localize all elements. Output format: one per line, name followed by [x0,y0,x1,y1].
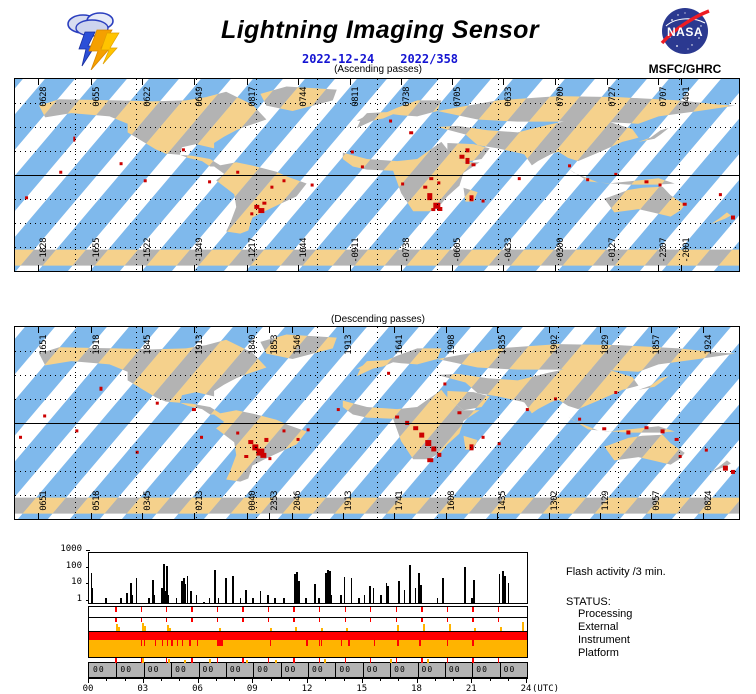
status-marker [191,618,192,622]
ascending-caption: (Ascending passes) [0,64,756,75]
status-marker [345,618,346,622]
table-row [218,598,220,603]
status-marker [396,618,397,622]
table-row [331,595,333,603]
external-activity-marker [449,624,451,631]
external-activity-marker [522,622,524,631]
table-row [318,598,320,603]
orbit-crossing-tick [394,513,395,519]
orbit-time-label: 1829 [601,335,611,355]
status-row-platform[interactable] [88,640,528,658]
platform-glitch-marker [189,640,190,646]
y-axis-label: 1 [77,595,82,604]
orbit-cell-label: 00 [339,665,351,674]
status-marker [242,618,243,622]
orbit-time-label: 0345 [143,491,153,511]
orbit-cell-label: 00 [394,665,406,674]
status-marker [141,618,142,622]
orbit-time-label: 1741 [395,491,405,511]
descending-caption: (Descending passes) [0,314,756,325]
orbit-cell-label: 00 [203,665,215,674]
orbit-crossing-tick [343,327,344,333]
time-axis-line [88,678,528,679]
status-marker [396,607,397,612]
orbit-cell-label: 00 [120,665,132,674]
table-row [508,583,510,603]
nasa-logo-icon: NASA [658,4,712,58]
table-row [126,593,128,603]
orbit-crossing-tick [452,79,453,85]
orbit-time-label: 0707 [659,87,669,107]
orbit-crossing-tick [607,79,608,85]
orbit-crossing-tick [343,513,344,519]
orbit-time-label: 0518 [92,491,102,511]
orbit-crossing-tick [549,327,550,333]
status-marker [421,618,422,622]
legend-item-instrument: Instrument [578,634,632,647]
orbit-time-label: 2046 [293,491,303,511]
table-row [340,595,342,603]
time-axis-label: 24 [521,684,532,694]
orbit-time-label: -1349 [195,238,205,263]
orbit-crossing-tick [703,513,704,519]
orbit-time-label: -1044 [299,238,309,263]
orbit-crossing-tick [452,265,453,271]
orbit-time-label: 1918 [92,335,102,355]
legend-item-processing: Processing [578,608,632,621]
external-activity-marker [144,626,146,631]
table-row [232,576,234,603]
orbit-time-label: 0957 [652,491,662,511]
platform-glitch-marker [167,640,168,646]
external-activity-marker [118,627,120,631]
status-marker [141,607,142,612]
status-marker [447,607,448,612]
external-activity-marker [346,628,348,631]
table-row [105,598,107,603]
table-row [245,590,247,603]
table-row [404,590,406,603]
external-activity-marker [474,628,476,631]
orbit-crossing-tick [247,513,248,519]
time-axis-tick [143,678,144,683]
orbit-time-label: 1908 [447,335,457,355]
time-axis-label: 15 [356,684,367,694]
orbit-time-label: 1835 [498,335,508,355]
orbit-time-label: 1651 [39,335,49,355]
orbit-crossing-tick [350,265,351,271]
orbit-time-label: 1853 [270,335,280,355]
table-row [274,598,276,603]
orbit-crossing-tick [549,513,550,519]
orbit-cell-label: 00 [504,665,516,674]
orbit-time-label: 1641 [395,335,405,355]
status-marker [498,618,499,622]
orbit-crossing-tick [142,79,143,85]
orbit-time-label: 0622 [143,87,153,107]
flash-activity-plot[interactable] [88,552,528,604]
platform-glitch-marker [197,640,198,646]
map-gridline-horizontal [15,351,739,352]
time-axis-tick [88,678,89,683]
orbit-time-label: 0655 [92,87,102,107]
orbit-time-label: 0651 [39,491,49,511]
table-row [437,598,439,603]
map-equator-line [15,175,739,176]
world-map-ascending[interactable]: 0628065506220649081707440811073807050633… [14,78,740,272]
table-row [120,598,122,603]
orbit-time-label: 1913 [344,491,354,511]
platform-glitch-marker [419,640,420,646]
time-axis-tick [198,678,199,683]
table-row [398,581,400,603]
orbit-crossing-tick [600,513,601,519]
time-axis-tick [362,678,363,683]
table-row [314,584,316,603]
orbit-time-label: 1129 [601,491,611,511]
orbit-crossing-tick [350,79,351,85]
time-axis-tick [417,678,418,683]
external-activity-marker [500,627,502,631]
orbit-time-label: -0738 [402,238,412,263]
y-axis-tick [86,550,90,551]
orbit-crossing-tick [142,327,143,333]
orbit-crossing-tick [497,513,498,519]
flash-plot-y-axis: 1000100101 [46,548,86,606]
platform-glitch-marker [155,640,156,646]
status-marker [293,618,294,622]
table-row [214,570,216,603]
status-row-external[interactable] [88,618,528,632]
orbit-cell-label: 00 [367,665,379,674]
orbit-time-label: 1845 [143,335,153,355]
map-gridline-horizontal [15,247,739,248]
status-marker [217,607,218,612]
external-activity-marker [295,627,297,631]
orbit-time-label: 0628 [39,87,49,107]
status-marker [242,607,243,612]
table-row [176,598,178,603]
map-gridline-horizontal [15,151,739,152]
time-axis-label: 21 [466,684,477,694]
map-gridline-horizontal [15,447,739,448]
orbit-crossing-tick [142,265,143,271]
page-header: Lightning Imaging Sensor 2022-12-242022/… [0,0,756,76]
table-row [267,595,269,603]
orbit-time-label: 0817 [248,87,258,107]
platform-glitch-marker [171,640,172,646]
table-row [464,567,466,603]
platform-glitch-marker [162,640,163,646]
orbit-time-label: 1302 [550,491,560,511]
time-axis-label: 00 [83,684,94,694]
orbit-time-label: 1608 [447,491,457,511]
orbit-crossing-tick [651,513,652,519]
orbit-crossing-tick [194,513,195,519]
table-row [136,578,138,603]
orbit-cell-label: 00 [93,665,105,674]
orbit-crossing-tick [658,265,659,271]
table-row [225,578,227,603]
table-row [364,595,366,603]
table-row [305,598,307,603]
table-row [209,598,211,603]
thundercloud-icon [55,8,135,70]
platform-glitch-marker [374,640,375,646]
orbit-activity-marker [209,659,211,663]
orbit-crossing-tick [247,327,248,333]
orbit-crossing-tick [651,327,652,333]
map-gridline-horizontal [15,223,739,224]
orbit-crossing-tick [298,265,299,271]
map-gridline-horizontal [15,199,739,200]
platform-glitch-marker [270,640,271,646]
time-axis-tick [526,678,527,683]
orbit-activity-marker [246,660,248,663]
status-marker [498,607,499,612]
orbit-time-label: -2307 [659,238,669,263]
orbit-crossing-tick [269,327,270,333]
status-marker [421,607,422,612]
map-gridline-horizontal [15,495,739,496]
time-axis-tick [252,678,253,683]
y-axis-label: 10 [71,578,82,587]
platform-glitch-marker [348,640,349,646]
orbit-activity-marker [184,660,186,663]
table-row [196,595,198,603]
orbit-crossing-tick [91,327,92,333]
orbit-crossing-tick [703,327,704,333]
map-gridline-horizontal [15,127,739,128]
orbit-crossing-tick [91,79,92,85]
table-row [283,598,285,603]
orbit-crossing-tick [555,79,556,85]
orbit-crossing-tick [292,513,293,519]
orbit-crossing-tick [600,327,601,333]
svg-text:NASA: NASA [667,25,703,39]
status-marker [293,607,294,612]
orbit-crossing-tick [503,79,504,85]
platform-glitch-marker [397,640,398,646]
orbit-time-label: 0649 [195,87,205,107]
orbit-time-label: 1840 [248,335,258,355]
table-row [420,585,422,603]
status-marker [115,618,116,622]
table-row [351,578,353,603]
external-activity-marker [397,625,399,631]
status-row-instrument[interactable] [88,632,528,640]
map-gridline-horizontal [15,399,739,400]
status-marker [268,618,269,622]
external-activity-marker [321,628,323,631]
map-gridline-horizontal [15,471,739,472]
orbit-time-label: -0605 [453,238,463,263]
orbit-time-label: 1435 [498,491,508,511]
orbit-crossing-tick [401,265,402,271]
orbit-time-label: -1828 [39,238,49,263]
orbit-cell-label: 00 [148,665,160,674]
table-row [499,574,501,603]
orbit-time-label: 0811 [351,87,361,107]
orbit-time-label: 1546 [293,335,303,355]
status-marker [472,607,473,612]
orbit-time-label: -0433 [504,238,514,263]
orbit-crossing-tick [292,327,293,333]
table-row [260,591,262,603]
status-marker [166,618,167,622]
orbit-time-label: 0401 [682,87,692,107]
map-gridline-horizontal [15,375,739,376]
status-marker [319,618,320,622]
orbit-activity-marker [427,659,429,663]
time-axis-label: 06 [192,684,203,694]
table-row [415,588,417,603]
orbit-time-label: -1522 [143,238,153,263]
external-activity-marker [270,628,272,631]
orbit-crossing-tick [38,79,39,85]
map-gridline-horizontal [15,103,739,104]
orbit-time-label: 1857 [652,335,662,355]
orbit-crossing-tick [38,513,39,519]
time-axis-label: 03 [137,684,148,694]
time-axis-label: 12 [302,684,313,694]
orbit-time-label: 1913 [195,335,205,355]
table-row [298,581,300,603]
orbit-time-label: 0727 [608,87,618,107]
orbit-time-label: -1655 [92,238,102,263]
platform-glitch-marker [144,640,145,646]
platform-glitch-marker [306,640,307,646]
table-row [358,598,360,603]
platform-glitch-marker [341,640,342,646]
orbit-crossing-tick [38,327,39,333]
status-marker [319,607,320,612]
orbit-cell-label: 00 [312,665,324,674]
table-row [387,586,389,603]
orbit-crossing-tick [497,327,498,333]
orbit-crossing-tick [269,513,270,519]
orbit-crossing-tick [394,327,395,333]
external-activity-marker [219,628,221,631]
table-row [187,576,189,603]
y-axis-label: 1000 [60,545,82,554]
legend-status-items: Processing External Instrument Platform [578,608,632,660]
orbit-cell-label: 00 [422,665,434,674]
time-axis-label: 18 [411,684,422,694]
table-row [442,578,444,603]
table-row [504,576,506,603]
external-activity-marker [169,628,171,631]
y-axis-label: 100 [66,562,82,571]
orbit-cell-label: 00 [449,665,461,674]
orbit-activity-marker [390,659,392,663]
platform-glitch-marker [141,640,142,646]
time-axis-label: 09 [247,684,258,694]
orbit-time-label: 0633 [504,87,514,107]
table-row [203,602,205,604]
table-row [373,588,375,603]
utc-unit-label: (UTC) [532,684,559,694]
orbit-crossing-tick [91,265,92,271]
orbit-cell-label: 00 [230,665,242,674]
orbit-time-label: -0300 [556,238,566,263]
platform-glitch-marker [472,640,473,646]
orbit-time-label: 0738 [402,87,412,107]
orbit-crossing-tick [401,79,402,85]
orbit-crossing-tick [142,513,143,519]
orbit-crossing-tick [658,79,659,85]
map-equator-line [15,423,739,424]
orbit-crossing-tick [681,79,682,85]
status-marker [370,607,371,612]
table-row [240,598,242,603]
legend-item-external: External [578,621,632,634]
orbit-cell-label: 00 [175,665,187,674]
orbit-crossing-tick [247,265,248,271]
orbit-time-label: 1902 [550,335,560,355]
external-activity-marker [423,624,425,631]
status-row-processing[interactable] [88,606,528,618]
orbit-crossing-tick [446,513,447,519]
orbit-crossing-tick [298,79,299,85]
table-row [168,595,170,603]
orbit-cell-label: 00 [285,665,297,674]
orbit-crossing-tick [503,265,504,271]
orbit-crossing-tick [446,327,447,333]
orbit-activity-marker [324,659,326,663]
orbit-crossing-tick [194,265,195,271]
orbit-time-label: 1924 [704,335,714,355]
orbit-time-label: -2001 [682,238,692,263]
orbit-time-label: -1217 [248,238,258,263]
table-row [154,595,156,603]
orbit-time-label: 0744 [299,87,309,107]
table-row [409,565,411,603]
world-map-descending[interactable]: 1651191818451913184018531546191316411908… [14,326,740,520]
orbit-time-label: -0911 [351,238,361,263]
orbit-activity-marker [142,658,144,663]
orbit-time-label: 1913 [344,335,354,355]
table-row [473,580,475,603]
orbit-time-label: 0040 [248,491,258,511]
time-axis-tick [307,678,308,683]
orbit-time-label: -0127 [608,238,618,263]
orbit-activity-marker [168,659,170,663]
orbit-time-label: 0213 [195,491,205,511]
platform-glitch-marker [177,640,178,646]
table-row [148,598,150,603]
page-title: Lightning Imaging Sensor [180,16,580,45]
table-row [369,586,371,603]
status-row-orbit[interactable]: 00000000000000000000000000000000 [88,662,528,678]
orbit-crossing-tick [607,265,608,271]
table-row [380,595,382,603]
bottom-panel: 1000100101 00000000000000000000000000000… [0,548,756,680]
status-marker [115,607,116,612]
platform-glitch-marker [447,640,448,646]
platform-glitch-marker [182,640,183,646]
table-row [92,588,94,603]
orbit-cell-label: 00 [257,665,269,674]
status-marker [191,607,192,612]
orbit-crossing-tick [194,327,195,333]
platform-glitch-marker [221,640,222,646]
status-marker [472,618,473,622]
orbit-crossing-tick [194,79,195,85]
status-marker [370,618,371,622]
table-row [190,591,192,603]
table-row [344,577,346,603]
